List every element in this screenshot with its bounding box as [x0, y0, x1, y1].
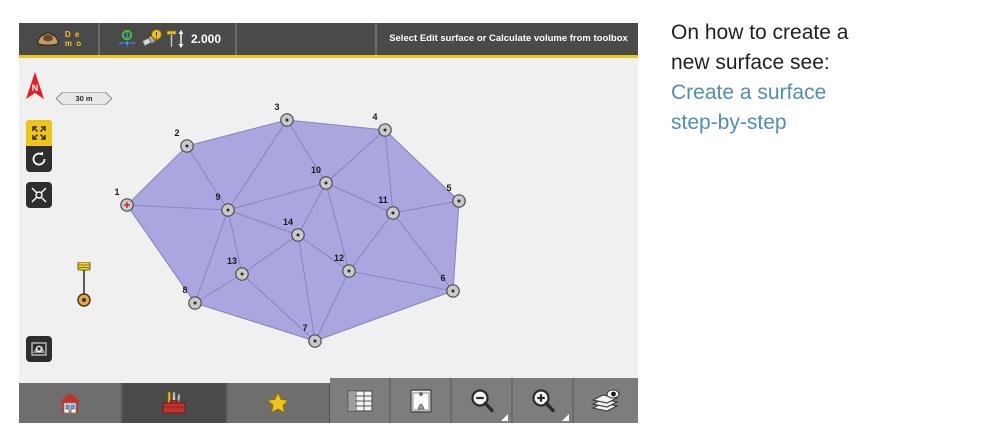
- surface-point-label: 1: [114, 187, 119, 197]
- caption-block: On how to create a new surface see: Crea…: [671, 18, 971, 138]
- topbar-empty-cell[interactable]: [239, 23, 377, 55]
- surface-point-label: 5: [446, 183, 451, 193]
- toolbox-icon[interactable]: [123, 383, 227, 423]
- gps-status-cell[interactable]: ! 2.000: [102, 23, 237, 55]
- caption-link-line-1[interactable]: Create a surface: [671, 78, 971, 108]
- demo-logo-label: D e m o: [65, 30, 82, 48]
- caption-line-2: new surface see:: [671, 51, 830, 74]
- view-window-icon[interactable]: [391, 378, 452, 423]
- home-icon[interactable]: [19, 383, 123, 423]
- zoom-out-corner-indicator: [501, 414, 508, 421]
- surface-point[interactable]: [387, 207, 399, 219]
- svg-text:!: !: [155, 31, 158, 40]
- surface-point[interactable]: [379, 124, 391, 136]
- surface-point-label: 10: [311, 165, 321, 175]
- surface-point[interactable]: [189, 297, 201, 309]
- gps-target-icon: [116, 28, 138, 50]
- crosshair-snap-icon[interactable]: [26, 182, 52, 208]
- surface-point[interactable]: [236, 268, 248, 280]
- layers-icon[interactable]: [574, 378, 635, 423]
- surface-point-label: 7: [302, 323, 307, 333]
- surface-drawing: [19, 58, 638, 383]
- pole-height-value: 2.000: [191, 32, 221, 46]
- surface-point-label: 9: [215, 192, 220, 202]
- surface-point[interactable]: [453, 195, 465, 207]
- surface-point-label: 13: [227, 256, 237, 266]
- survey-pole-icon: [76, 262, 92, 308]
- surface-point-label: 3: [274, 102, 279, 112]
- zoom-in-icon[interactable]: [513, 378, 574, 423]
- map-tool-dock: [26, 120, 52, 172]
- status-message-text: Select Edit surface or Calculate volume …: [379, 33, 638, 45]
- top-status-bar: D e m o !: [19, 23, 638, 58]
- north-letter: N: [32, 83, 39, 93]
- surface-point-label: 4: [372, 112, 377, 122]
- surface-point[interactable]: [121, 199, 133, 211]
- surface-point-label: 8: [182, 285, 187, 295]
- satellite-warning-icon: !: [141, 29, 163, 49]
- north-arrow-icon[interactable]: N: [24, 72, 46, 102]
- surface-point[interactable]: [181, 140, 193, 152]
- demo-logo-cell[interactable]: D e m o: [19, 23, 100, 55]
- map-sub-toolbar: [330, 378, 638, 423]
- surface-point[interactable]: [222, 204, 234, 216]
- surface-point[interactable]: [320, 177, 332, 189]
- table-view-icon[interactable]: [330, 378, 391, 423]
- scale-bar-label: 30 m: [56, 92, 112, 105]
- surface-point[interactable]: [343, 265, 355, 277]
- map-settings-icon[interactable]: [26, 336, 52, 362]
- rotate-icon[interactable]: [26, 146, 52, 172]
- app-window: D e m o !: [19, 23, 638, 408]
- zoom-out-icon[interactable]: [452, 378, 513, 423]
- surface-point[interactable]: [281, 114, 293, 126]
- caption-link-line-2[interactable]: step-by-step: [671, 108, 971, 138]
- surface-point-label: 6: [440, 273, 445, 283]
- fit-to-screen-icon[interactable]: [26, 120, 52, 146]
- surface-point-label: 12: [334, 253, 344, 263]
- surface-point[interactable]: [292, 229, 304, 241]
- zoom-in-corner-indicator: [562, 414, 569, 421]
- favorites-star-icon[interactable]: [227, 383, 331, 423]
- surface-point-label: 11: [378, 195, 388, 205]
- map-canvas[interactable]: 1234567891011121314 N 30 m: [19, 58, 638, 383]
- surface-point-label: 14: [283, 217, 293, 227]
- surface-point[interactable]: [447, 285, 459, 297]
- status-message-cell: Select Edit surface or Calculate volume …: [379, 23, 638, 55]
- surface-point[interactable]: [309, 335, 321, 347]
- caption-line-1: On how to create a: [671, 21, 848, 44]
- screenshot-root: D e m o !: [0, 0, 991, 424]
- hardhat-logo-icon: [35, 30, 61, 48]
- pole-height-icon: [166, 28, 186, 50]
- surface-point-label: 2: [174, 128, 179, 138]
